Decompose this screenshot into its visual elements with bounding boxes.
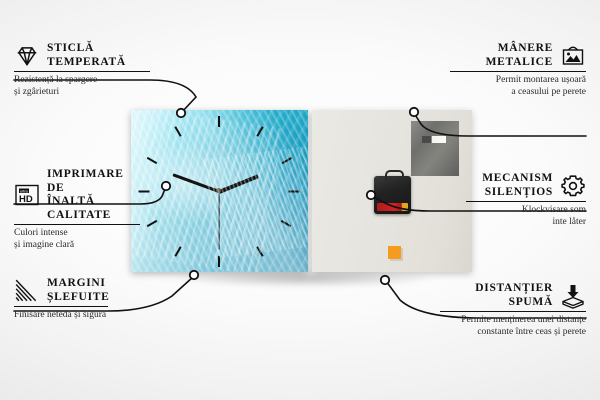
feature-manere-metalice[interactable]: MÂNERE METALICE Permit montarea ușoară a… bbox=[450, 42, 586, 98]
anchor-dot-mecanism-silentios bbox=[367, 191, 375, 199]
feature-title-line1: MARGINI bbox=[47, 277, 109, 291]
feature-header: MÂNERE METALICE bbox=[450, 42, 586, 69]
feature-header: DISTANȚIER SPUMĂ bbox=[440, 282, 586, 309]
feature-sub-line1: Culori intense bbox=[14, 228, 140, 240]
feature-header: ultra HD IMPRIMARE DE ÎNALTĂ CALITATE bbox=[14, 168, 140, 222]
feature-sub-line1: Permite menținerea unei distanțe bbox=[440, 315, 586, 327]
foam-spacer-icon bbox=[560, 283, 586, 309]
feature-title-line1: IMPRIMARE DE bbox=[47, 168, 140, 195]
polished-edge-icon bbox=[14, 278, 40, 304]
feature-mecanism-silentios[interactable]: MECANISM SILENȚIOS Klockvisare som inte … bbox=[466, 172, 586, 228]
anchor-dot-imprimare-hd bbox=[162, 182, 170, 190]
feature-sub-line2: și zgârieturi bbox=[14, 87, 150, 99]
feature-sticla-temperata[interactable]: STICLĂ TEMPERATĂ Rezistență la spargere … bbox=[14, 42, 150, 98]
feature-title-line2: ÎNALTĂ CALITATE bbox=[47, 195, 140, 222]
diamond-icon bbox=[14, 43, 40, 69]
feature-margini-slefuite[interactable]: MARGINI ȘLEFUITE Finisare netedă și sigu… bbox=[14, 277, 108, 322]
anchor-dot-distantier-spuma bbox=[381, 276, 389, 284]
feature-distantier-spuma[interactable]: DISTANȚIER SPUMĂ Permite menținerea unei… bbox=[440, 282, 586, 338]
feature-title-line1: MECANISM bbox=[482, 172, 553, 186]
anchor-dot-sticla-temperata bbox=[177, 109, 185, 117]
feature-title-line2: SPUMĂ bbox=[475, 296, 553, 310]
feature-title-line2: SILENȚIOS bbox=[482, 186, 553, 200]
feature-sub-line2: și imagine clară bbox=[14, 240, 140, 252]
feature-imprimare-hd[interactable]: ultra HD IMPRIMARE DE ÎNALTĂ CALITATE Cu… bbox=[14, 168, 140, 251]
feature-sub-line1: Klockvisare som bbox=[466, 205, 586, 217]
feature-sub-line2: inte låter bbox=[466, 217, 586, 229]
svg-text:HD: HD bbox=[19, 194, 33, 205]
feature-title-line2: TEMPERATĂ bbox=[47, 56, 126, 70]
svg-text:ultra: ultra bbox=[20, 188, 29, 193]
anchor-dot-manere-metalice bbox=[410, 108, 418, 116]
anchor-dot-margini-slefuite bbox=[190, 271, 198, 279]
feature-rule bbox=[466, 201, 586, 202]
feature-sub-line1: Permit montarea ușoară bbox=[450, 75, 586, 87]
feature-header: MECANISM SILENȚIOS bbox=[466, 172, 586, 199]
feature-rule bbox=[440, 311, 586, 312]
feature-rule bbox=[14, 224, 140, 225]
line-manere-metalice bbox=[414, 113, 586, 136]
feature-title-line1: STICLĂ bbox=[47, 42, 126, 56]
feature-sub-line1: Rezistență la spargere bbox=[14, 75, 150, 87]
feature-sub-line2: a ceasului pe perete bbox=[450, 87, 586, 99]
feature-rule bbox=[14, 306, 108, 307]
picture-hanger-icon bbox=[560, 43, 586, 69]
feature-rule bbox=[450, 71, 586, 72]
feature-title-line1: DISTANȚIER bbox=[475, 282, 553, 296]
infographic-stage: STICLĂ TEMPERATĂ Rezistență la spargere … bbox=[0, 0, 600, 400]
gear-icon bbox=[560, 173, 586, 199]
feature-title-line1: MÂNERE bbox=[486, 42, 553, 56]
ultra-hd-icon: ultra HD bbox=[14, 182, 40, 208]
feature-header: STICLĂ TEMPERATĂ bbox=[14, 42, 150, 69]
feature-sub-line2: constante între ceas și perete bbox=[440, 327, 586, 339]
feature-title-line2: METALICE bbox=[486, 56, 553, 70]
feature-title-line2: ȘLEFUITE bbox=[47, 291, 109, 305]
feature-header: MARGINI ȘLEFUITE bbox=[14, 277, 108, 304]
feature-rule bbox=[14, 71, 150, 72]
feature-sub-line1: Finisare netedă și sigură bbox=[14, 310, 108, 322]
